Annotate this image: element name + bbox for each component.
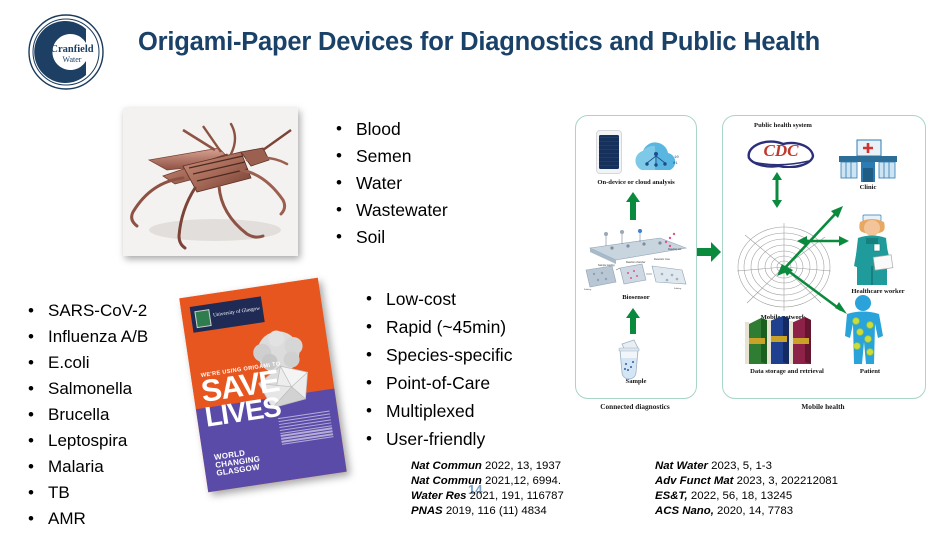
svg-text:10: 10: [674, 156, 679, 160]
books-icon: [741, 312, 819, 368]
node-label-sample: Sample: [578, 378, 694, 385]
list-item-label: Water: [356, 172, 402, 195]
pathogen-list: •SARS-CoV-2 •Influenza A/B •E.coli •Salm…: [28, 300, 148, 534]
references-right-column: Nat Water 2023, 5, 1-3 Adv Funct Mat 202…: [655, 459, 838, 519]
svg-text:01: 01: [673, 162, 678, 166]
arrow-web-to-patient-icon: [781, 262, 851, 318]
double-arrow-vertical-icon: [771, 172, 783, 208]
reference-entry: Adv Funct Mat 2023, 3, 202212081: [655, 474, 838, 489]
svg-text:CDC: CDC: [764, 141, 800, 160]
reference-journal: Nat Water: [655, 460, 708, 472]
svg-text:Reading slot: Reading slot: [668, 248, 682, 251]
reference-journal: Adv Funct Mat: [655, 475, 733, 487]
list-item: •Rapid (~45min): [366, 316, 512, 339]
bullet-dot: •: [336, 118, 356, 141]
list-item: •Wastewater: [336, 199, 448, 222]
reference-detail: 2023, 3, 202212081: [733, 475, 838, 487]
bullet-dot: •: [28, 430, 48, 453]
list-item: •User-friendly: [366, 428, 512, 451]
cranfield-water-logo: Cranfield Water: [22, 12, 110, 92]
smartphone-icon: [596, 130, 622, 174]
node-label-patient: Patient: [841, 368, 899, 375]
list-item-label: User-friendly: [386, 428, 485, 451]
reference-journal: PNAS: [411, 505, 443, 517]
bullet-dot: •: [28, 482, 48, 505]
list-item: •TB: [28, 482, 148, 505]
hospital-icon: [837, 138, 899, 184]
logo-name-text: Cranfield: [50, 44, 93, 55]
bullet-dot: •: [336, 145, 356, 168]
svg-text:Reaction chamber: Reaction chamber: [626, 261, 646, 264]
svg-text:Folding: Folding: [674, 288, 682, 290]
list-item: •Brucella: [28, 404, 148, 427]
bullet-dot: •: [28, 508, 48, 531]
glasgow-poster: University of Glasgow WE'RE USING ORIGAM…: [193, 287, 353, 505]
feature-list: •Low-cost •Rapid (~45min) •Species-speci…: [366, 288, 512, 456]
list-item-label: Species-specific: [386, 344, 512, 367]
list-item: •Influenza A/B: [28, 326, 148, 349]
bullet-dot: •: [28, 300, 48, 323]
node-label-biosensor: Biosensor: [578, 294, 694, 301]
svg-text:Detection zone: Detection zone: [654, 258, 671, 261]
bullet-dot: •: [336, 199, 356, 222]
node-label-data-storage: Data storage and retrieval: [725, 368, 849, 375]
list-item-label: Wastewater: [356, 199, 448, 222]
paper-biosensor-icon: Sample loadingReaction chamber Detection…: [582, 224, 692, 292]
list-item-label: Blood: [356, 118, 401, 141]
list-item-label: Leptospira: [48, 430, 127, 453]
reference-journal: Nat Commun: [411, 475, 482, 487]
reference-journal: Water Res: [411, 490, 467, 502]
reference-detail: 2022, 56, 18, 13245: [688, 490, 793, 502]
list-item: •Multiplexed: [366, 400, 512, 423]
connected-diagnostics-diagram: 10 01 On-device or cloud analysis Sample…: [570, 110, 930, 420]
reference-detail: 2021, 191, 116787: [467, 490, 564, 502]
list-item: •Leptospira: [28, 430, 148, 453]
reference-detail: 2020, 14, 7783: [714, 505, 793, 517]
list-item: •E.coli: [28, 352, 148, 375]
reference-journal: ES&T,: [655, 490, 688, 502]
reference-entry: Nat Commun 2022, 13, 1937: [411, 459, 564, 474]
list-item: •Low-cost: [366, 288, 512, 311]
nurse-icon: [848, 214, 896, 286]
list-item-label: Brucella: [48, 404, 109, 427]
sample-type-list: •Blood •Semen •Water •Wastewater •Soil: [336, 118, 448, 253]
phone-screen: [599, 135, 619, 169]
reference-detail: 2021,12, 6994.: [482, 475, 561, 487]
bullet-dot: •: [28, 378, 48, 401]
list-item-label: AMR: [48, 508, 86, 531]
list-item-label: Malaria: [48, 456, 104, 479]
bullet-dot: •: [336, 226, 356, 249]
references-left-column: Nat Commun 2022, 13, 1937 Nat Commun 202…: [411, 459, 564, 519]
reference-entry: Nat Commun 2021,12, 6994.: [411, 474, 564, 489]
bullet-dot: •: [366, 288, 386, 311]
university-logo-text: University of Glasgow: [213, 307, 261, 320]
list-item: •Species-specific: [366, 344, 512, 367]
mobile-health-panel: Public health system CDC Clinic: [722, 115, 926, 399]
list-item-label: Rapid (~45min): [386, 316, 506, 339]
list-item: •Water: [336, 172, 448, 195]
node-label-clinic: Clinic: [833, 184, 903, 191]
reference-entry: Nat Water 2023, 5, 1-3: [655, 459, 838, 474]
slide-header: Cranfield Water Origami-Paper Devices fo…: [0, 0, 940, 96]
node-label-public-health-system: Public health system: [733, 122, 833, 129]
bullet-dot: •: [366, 372, 386, 395]
sample-tube-icon: [606, 338, 654, 382]
list-item: •Point-of-Care: [366, 372, 512, 395]
arrow-web-to-worker-icon: [795, 234, 851, 248]
list-item-label: Point-of-Care: [386, 372, 490, 395]
origami-mosquito-photo: [123, 108, 298, 256]
bullet-dot: •: [366, 316, 386, 339]
list-item-label: Multiplexed: [386, 400, 475, 423]
university-crest-icon: [194, 309, 211, 328]
list-item-label: Semen: [356, 145, 411, 168]
reference-entry: ACS Nano, 2020, 14, 7783: [655, 504, 838, 519]
panel-caption-mobile-health: Mobile health: [722, 402, 924, 411]
list-item-label: Influenza A/B: [48, 326, 148, 349]
reference-detail: 2022, 13, 1937: [482, 460, 561, 472]
list-item-label: Soil: [356, 226, 385, 249]
bullet-dot: •: [28, 404, 48, 427]
list-item: •Salmonella: [28, 378, 148, 401]
reference-detail: 2023, 5, 1-3: [708, 460, 772, 472]
list-item-label: SARS-CoV-2: [48, 300, 147, 323]
list-item: •AMR: [28, 508, 148, 531]
list-item-label: Low-cost: [386, 288, 456, 311]
upward-arrow-icon: [626, 308, 640, 334]
page-title: Origami-Paper Devices for Diagnostics an…: [138, 28, 928, 57]
list-item: •Semen: [336, 145, 448, 168]
bullet-dot: •: [366, 344, 386, 367]
svg-text:Folding: Folding: [584, 289, 592, 291]
list-item: •Malaria: [28, 456, 148, 479]
list-item-label: Salmonella: [48, 378, 132, 401]
logo-sub-text: Water: [63, 55, 82, 64]
node-label-on-device-analysis: On-device or cloud analysis: [578, 179, 694, 186]
reference-entry: PNAS 2019, 116 (11) 4834: [411, 504, 564, 519]
panel-transition-arrow-icon: [696, 241, 722, 263]
cloud-network-icon: 10 01: [628, 138, 684, 178]
bullet-dot: •: [28, 352, 48, 375]
connected-diagnostics-panel: 10 01 On-device or cloud analysis Sample…: [575, 115, 697, 399]
reference-journal: ACS Nano,: [655, 505, 714, 517]
reference-entry: Water Res 2021, 191, 116787: [411, 489, 564, 504]
cdc-logo-icon: CDC: [745, 134, 817, 168]
bullet-dot: •: [366, 400, 386, 423]
list-item: •SARS-CoV-2: [28, 300, 148, 323]
bullet-dot: •: [28, 326, 48, 349]
bullet-dot: •: [28, 456, 48, 479]
upward-arrow-icon: [626, 192, 640, 220]
list-item-label: TB: [48, 482, 70, 505]
reference-entry: ES&T, 2022, 56, 18, 13245: [655, 489, 838, 504]
list-item-label: E.coli: [48, 352, 90, 375]
reference-journal: Nat Commun: [411, 460, 482, 472]
bullet-dot: •: [366, 428, 386, 451]
list-item: •Soil: [336, 226, 448, 249]
list-item: •Blood: [336, 118, 448, 141]
panel-caption-connected-diagnostics: Connected diagnostics: [576, 402, 694, 411]
bullet-dot: •: [336, 172, 356, 195]
reference-detail: 2019, 116 (11) 4834: [443, 505, 547, 517]
